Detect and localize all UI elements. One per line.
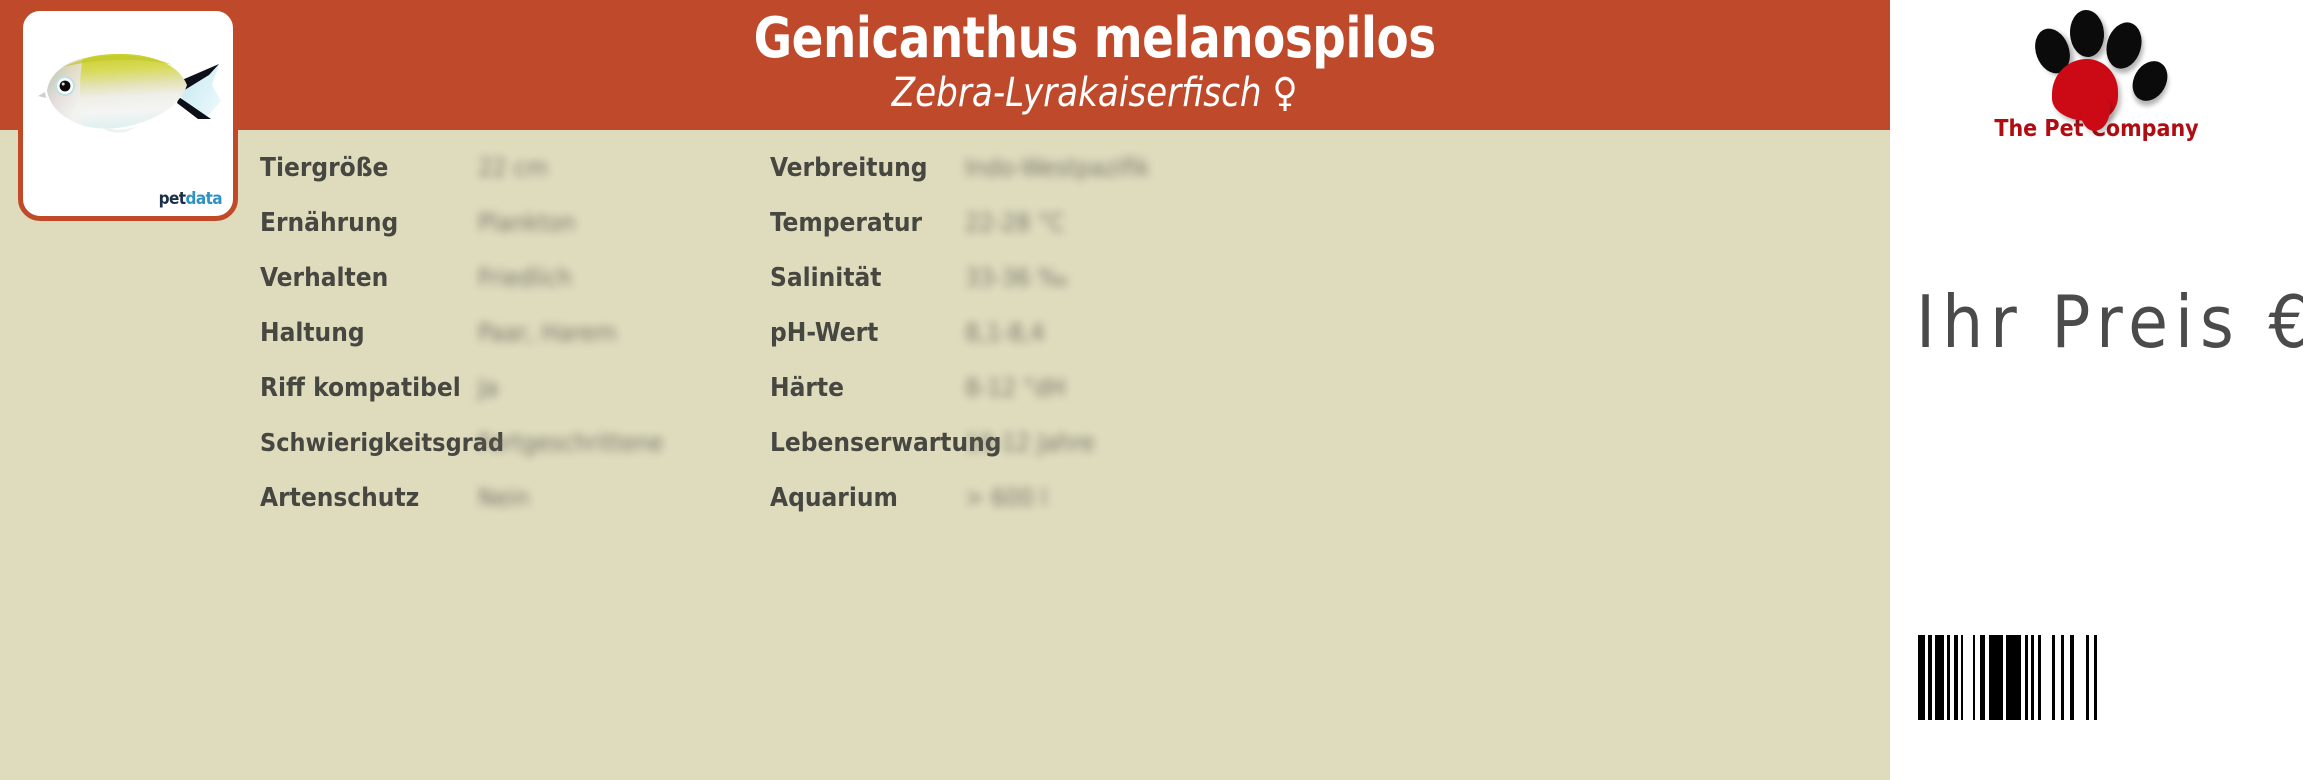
attribute-value-verhalten: Friedlich <box>470 250 770 305</box>
price-label: Ihr Preis € <box>1916 286 2303 358</box>
paw-pad-icon <box>2052 59 2118 121</box>
barcode-bar <box>1918 635 1925 720</box>
barcode <box>1918 635 2248 730</box>
attribute-value-schwierigkeitsgrad: Fortgeschrittene <box>470 415 770 470</box>
attribute-value-artenschutz: Nein <box>470 470 770 525</box>
watermark-pet-text: pet <box>159 189 186 209</box>
attribute-value-verbreitung: Indo-Westpazifik <box>965 140 1295 195</box>
attribute-value-lebenserwartung: 10-12 Jahre <box>965 415 1295 470</box>
barcode-space <box>2097 635 2104 720</box>
attribute-value-ph-wert: 8,1-8,4 <box>965 305 1295 360</box>
common-name: Zebra-Lyrakaiserfisch ♀ <box>892 71 1298 115</box>
attribute-value-aquarium: > 600 l <box>965 470 1295 525</box>
title-block: Genicanthus melanospilos Zebra-Lyrakaise… <box>300 0 1890 130</box>
attribute-label-ph-wert: pH-Wert <box>770 305 965 360</box>
fish-photo <box>33 39 233 149</box>
attribute-value-riff-kompatibel: Ja <box>470 360 770 415</box>
attribute-value-salinitaet: 33-36 ‰ <box>965 250 1295 305</box>
attribute-value-haltung: Paar, Harem <box>470 305 770 360</box>
price-panel: The Pet Company Ihr Preis € <box>1890 0 2303 780</box>
attribute-label-haerte: Härte <box>770 360 965 415</box>
attribute-label-riff-kompatibel: Riff kompatibel <box>260 360 470 415</box>
barcode-bar <box>2006 635 2021 720</box>
attribute-label-verbreitung: Verbreitung <box>770 140 965 195</box>
species-name: Genicanthus melanospilos <box>754 10 1436 69</box>
company-logo: The Pet Company <box>1890 2 2303 152</box>
barcode-space <box>2074 635 2086 720</box>
attribute-value-temperatur: 22-28 °C <box>965 195 1295 250</box>
barcode-bar <box>1989 635 2003 720</box>
barcode-bar <box>1935 635 1944 720</box>
attribute-grid: Tiergröße 22 cm Verbreitung Indo-Westpaz… <box>260 140 1860 760</box>
attribute-label-aquarium: Aquarium <box>770 470 965 525</box>
attribute-label-schwierigkeitsgrad: Schwierigkeitsgrad <box>260 415 470 470</box>
attribute-value-tiergroesse: 22 cm <box>470 140 770 195</box>
attribute-label-artenschutz: Artenschutz <box>260 470 470 525</box>
barcode-space <box>2041 635 2052 720</box>
attribute-label-verhalten: Verhalten <box>260 250 470 305</box>
species-photo-card: petdata <box>18 6 238 221</box>
paw-print-icon <box>2022 2 2172 112</box>
watermark-data-text: data <box>186 189 223 209</box>
attribute-value-ernaehrung: Plankton <box>470 195 770 250</box>
species-label-root: Genicanthus melanospilos Zebra-Lyrakaise… <box>0 0 2303 780</box>
attribute-label-salinitaet: Salinität <box>770 250 965 305</box>
attribute-label-lebenserwartung: Lebenserwartung <box>770 415 965 470</box>
attribute-label-haltung: Haltung <box>260 305 470 360</box>
attribute-label-tiergroesse: Tiergröße <box>260 140 470 195</box>
info-panel: Genicanthus melanospilos Zebra-Lyrakaise… <box>0 0 1890 780</box>
attribute-value-haerte: 8-12 °dH <box>965 360 1295 415</box>
barcode-space <box>1963 635 1973 720</box>
attribute-label-ernaehrung: Ernährung <box>260 195 470 250</box>
paw-toe-icon <box>2068 9 2105 58</box>
paw-toe-icon <box>2101 18 2147 73</box>
attribute-label-temperatur: Temperatur <box>770 195 965 250</box>
petdata-watermark: petdata <box>159 191 222 208</box>
